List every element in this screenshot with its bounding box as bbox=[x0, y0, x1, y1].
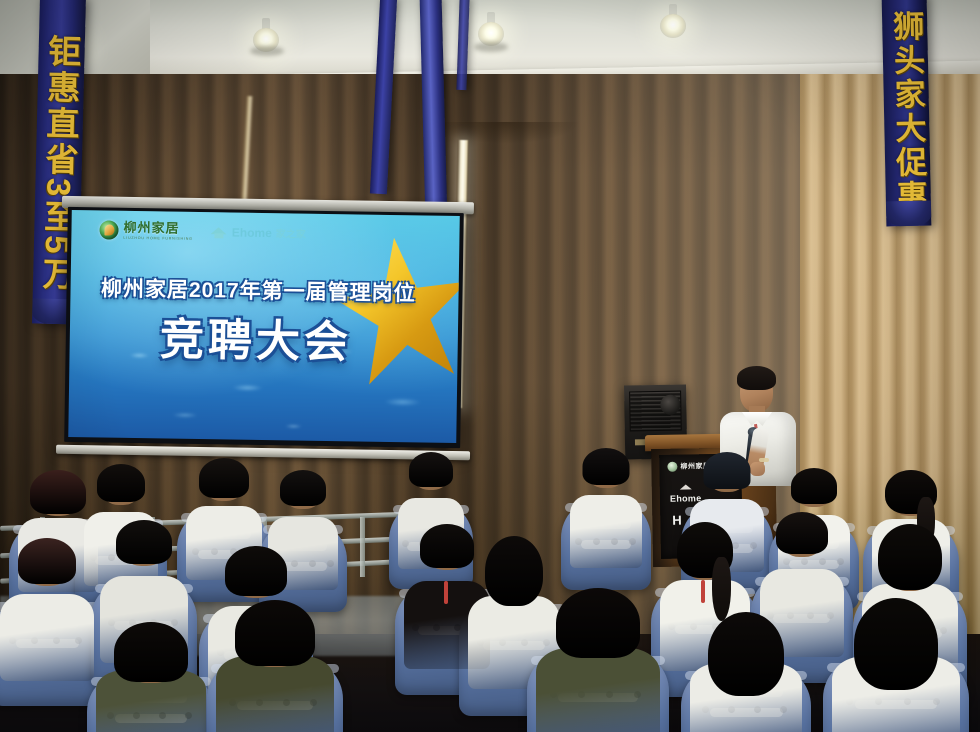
projection-screen-border: 柳州家居 LIUZHOU HOME FURNISHING Ehome 家之家 柳… bbox=[64, 207, 464, 448]
audience-member-torso bbox=[216, 656, 334, 732]
audience-member-hair bbox=[409, 452, 453, 487]
audience-member-hair bbox=[235, 600, 315, 666]
audience-member-hair bbox=[225, 546, 287, 596]
audience-member-hair bbox=[485, 536, 543, 606]
audience-member-torso bbox=[536, 648, 660, 732]
liuzhou-home-logo-text: 柳州家居 bbox=[123, 221, 193, 235]
railing-post bbox=[360, 517, 365, 577]
audience-member-hair bbox=[556, 588, 640, 658]
audience-member-hair bbox=[854, 598, 938, 690]
audience-member-hair bbox=[791, 468, 837, 504]
presenter-hair bbox=[737, 366, 776, 390]
audience-member-hair bbox=[114, 622, 188, 682]
spotlight-bulb bbox=[660, 14, 686, 38]
audience-member-hair bbox=[97, 464, 145, 502]
liuzhou-home-logo-icon bbox=[99, 220, 118, 239]
spotlight-shade bbox=[250, 46, 284, 56]
audience-member-lanyard bbox=[444, 581, 448, 604]
audience-member bbox=[0, 538, 94, 678]
audience-member-hair bbox=[280, 470, 326, 506]
screen-title-line2: 竞聘大会 bbox=[160, 303, 353, 370]
spotlight-shade bbox=[474, 42, 508, 52]
banner-right-tip bbox=[886, 201, 932, 227]
conference-photo-scene: 钜惠直省3至5万 狮头家大促惠 柳州家居 LIUZHOU HOME FURNIS… bbox=[0, 0, 980, 732]
audience-member bbox=[536, 588, 660, 732]
liuzhou-home-logo-subtext: LIUZHOU HOME FURNISHING bbox=[123, 236, 192, 241]
ehome-logo: Ehome 家之家 bbox=[211, 224, 306, 240]
audience-member-lanyard bbox=[701, 580, 705, 603]
audience-member-hair bbox=[116, 520, 172, 564]
audience-member-hair bbox=[583, 448, 630, 485]
projection-screen-surface: 柳州家居 LIUZHOU HOME FURNISHING Ehome 家之家 柳… bbox=[68, 210, 460, 443]
projection-screen: 柳州家居 LIUZHOU HOME FURNISHING Ehome 家之家 柳… bbox=[64, 207, 464, 448]
audience-member bbox=[216, 600, 334, 732]
audience-member-torso bbox=[0, 594, 94, 681]
audience-member-hair bbox=[18, 538, 76, 584]
hanging-banner-right: 狮头家大促惠 bbox=[882, 0, 932, 226]
audience-member bbox=[96, 622, 206, 732]
audience-member-hair bbox=[776, 512, 828, 554]
ceiling-spotlight-4 bbox=[660, 4, 686, 38]
ehome-logo-cn: 家之家 bbox=[276, 225, 306, 240]
audience-member-hair bbox=[420, 524, 474, 568]
audience-member-hair bbox=[199, 458, 249, 498]
ceiling-spotlight-3 bbox=[478, 12, 504, 46]
audience-member-hair bbox=[878, 524, 942, 590]
ehome-logo-en: Ehome bbox=[232, 225, 272, 240]
audience-member bbox=[570, 448, 642, 566]
audience-member bbox=[832, 598, 960, 732]
curtain-swag-shadow bbox=[430, 122, 580, 144]
screen-title-line1: 柳州家居2017年第一届管理岗位 bbox=[101, 272, 416, 307]
liuzhou-home-logo: 柳州家居 LIUZHOU HOME FURNISHING bbox=[99, 220, 193, 240]
house-icon bbox=[211, 225, 228, 238]
audience-member-hair bbox=[704, 452, 751, 489]
audience-member-hair bbox=[708, 612, 784, 696]
podium-logo-icon bbox=[667, 462, 677, 472]
liuzhou-home-logo-textblock: 柳州家居 LIUZHOU HOME FURNISHING bbox=[123, 221, 193, 241]
audience-member-torso bbox=[570, 495, 642, 568]
screen-logo-row: 柳州家居 LIUZHOU HOME FURNISHING Ehome 家之家 bbox=[99, 220, 306, 242]
audience-member bbox=[690, 612, 802, 732]
banner-right-text: 狮头家大促惠 bbox=[888, 10, 927, 215]
audience-member-hair bbox=[30, 470, 86, 514]
